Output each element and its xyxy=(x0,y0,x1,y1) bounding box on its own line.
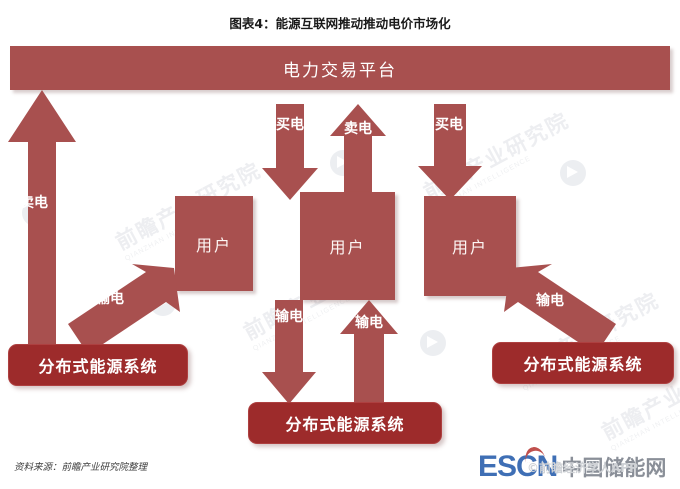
chart-title: 图表4：能源互联网推动推动电价市场化 xyxy=(0,13,680,32)
arrow-buy-right xyxy=(418,104,482,200)
source-note: 资料来源：前瞻产业研究院整理 xyxy=(14,459,147,473)
node-label: 分布式能源系统 xyxy=(285,411,404,435)
node-label: 用户 xyxy=(329,234,365,258)
node-distributed-energy-center: 分布式能源系统 xyxy=(248,402,442,444)
arrow-transmit-left xyxy=(62,266,186,352)
watermark-logo-icon xyxy=(560,160,586,186)
arrow-sell-center xyxy=(330,104,386,200)
node-power-trading-platform: 电力交易平台 xyxy=(10,46,670,90)
node-label: 用户 xyxy=(196,232,232,256)
node-label: 电力交易平台 xyxy=(283,56,397,81)
node-distributed-energy-left: 分布式能源系统 xyxy=(8,344,188,386)
app-watermark: ©前瞻经济学人APP xyxy=(527,459,638,476)
arrow-buy-center-left xyxy=(262,104,318,200)
node-label: 分布式能源系统 xyxy=(523,351,642,375)
node-label: 分布式能源系统 xyxy=(38,353,157,377)
watermark-logo-icon xyxy=(420,330,446,356)
arrow-transmit-right xyxy=(498,266,622,352)
node-user-center: 用户 xyxy=(300,192,395,300)
diagram-canvas: 前瞻产业研究院QIANZHAN INTELLIGENCE 前瞻产业研究院QIAN… xyxy=(0,0,680,489)
node-user-left: 用户 xyxy=(175,196,253,291)
arrow-transmit-center-down xyxy=(262,300,316,404)
node-label: 用户 xyxy=(452,234,488,258)
node-distributed-energy-right: 分布式能源系统 xyxy=(492,342,674,384)
arrow-transmit-center-up xyxy=(340,300,398,404)
